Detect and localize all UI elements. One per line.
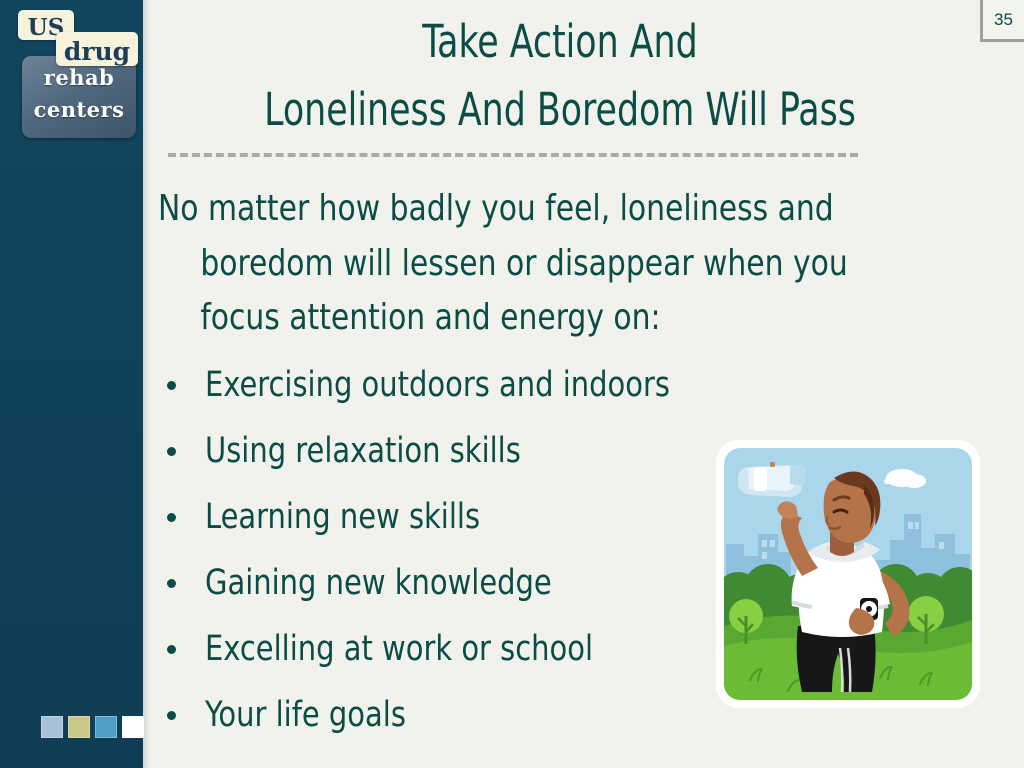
lead-paragraph: No matter how badly you feel, loneliness… [158, 182, 927, 346]
logo-chip-drug: drug [56, 32, 138, 66]
page-number: 35 [980, 0, 1024, 42]
slide-title: Take Action And Loneliness And Boredom W… [207, 8, 912, 143]
runner-illustration [716, 440, 980, 708]
bullet-label: Your life goals [205, 685, 406, 745]
bullet-dot-icon [167, 645, 176, 654]
bullet-dot-icon [167, 447, 176, 456]
bullet-label: Excelling at work or school [205, 619, 593, 679]
list-item: Learning new skills [160, 487, 780, 553]
bullet-list: Exercising outdoors and indoors Using re… [160, 355, 780, 751]
list-item: Gaining new knowledge [160, 553, 780, 619]
list-item: Your life goals [160, 685, 780, 751]
decoration-square-4 [122, 716, 144, 738]
bullet-dot-icon [167, 579, 176, 588]
decoration-square-1 [41, 716, 63, 738]
list-item: Excelling at work or school [160, 619, 780, 685]
decoration-square-2 [68, 716, 90, 738]
slide-canvas: rehab centers US drug 35 Take Action And… [0, 0, 1024, 768]
bullet-label: Using relaxation skills [205, 421, 521, 481]
decoration-square-3 [95, 716, 117, 738]
brand-logo: rehab centers US drug [14, 6, 138, 138]
list-item: Exercising outdoors and indoors [160, 355, 780, 421]
logo-word-centers: centers [22, 97, 136, 122]
logo-word-rehab: rehab [22, 65, 136, 90]
sidebar-square-decoration [41, 716, 144, 738]
title-divider [168, 153, 858, 157]
list-item: Using relaxation skills [160, 421, 780, 487]
bullet-label: Exercising outdoors and indoors [205, 355, 670, 415]
bullet-dot-icon [167, 711, 176, 720]
bullet-dot-icon [167, 513, 176, 522]
bullet-label: Gaining new knowledge [205, 553, 552, 613]
bullet-label: Learning new skills [205, 487, 480, 547]
bullet-dot-icon [167, 381, 176, 390]
sidebar-edge-divider [143, 0, 150, 768]
logo-box: rehab centers [22, 56, 136, 138]
runner-illustration-svg [724, 448, 972, 700]
